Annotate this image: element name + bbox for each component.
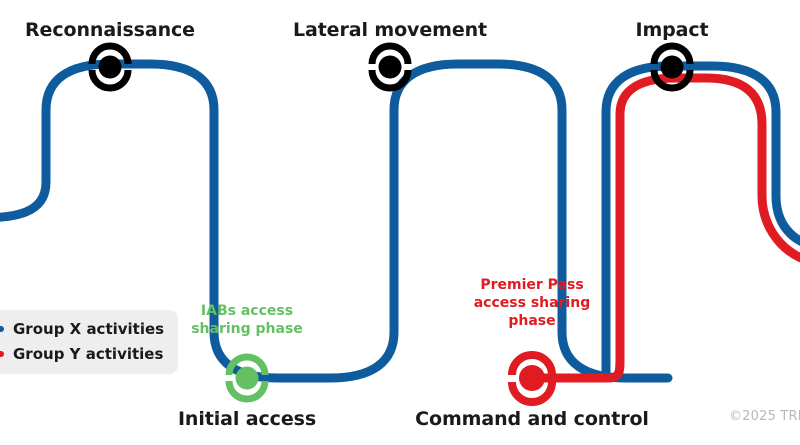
flow-path-canvas <box>0 0 800 445</box>
stage-label-impact: Impact <box>635 19 708 41</box>
group-y-flow-line <box>532 78 800 378</box>
attack-flow-diagram: Reconnaissance Initial access Lateral mo… <box>0 0 800 445</box>
legend-label: Group Y activities <box>13 345 163 363</box>
node-lateral-movement[interactable] <box>372 46 408 88</box>
annotation-premier-pass-access-sharing-phase: Premier Pass access sharing phase <box>474 276 591 330</box>
annotation-line: phase <box>474 312 591 330</box>
copyright-notice: ©2025 TRE <box>729 409 800 424</box>
annotation-iabs-access-sharing-phase: IABs access sharing phase <box>191 302 303 338</box>
legend: Group X activities Group Y activities <box>0 310 178 374</box>
legend-swatch-icon <box>0 326 4 332</box>
stage-label-reconnaissance: Reconnaissance <box>25 19 195 41</box>
legend-label: Group X activities <box>13 320 164 338</box>
target-icon <box>372 46 408 88</box>
annotation-line: access sharing <box>474 294 591 312</box>
stage-label-lateral-movement: Lateral movement <box>293 19 487 41</box>
legend-item-group-y: Group Y activities <box>0 345 164 363</box>
annotation-line: IABs access <box>191 302 303 320</box>
stage-label-initial-access: Initial access <box>178 408 316 430</box>
stage-label-command-and-control: Command and control <box>415 408 649 430</box>
legend-item-group-x: Group X activities <box>0 320 164 338</box>
annotation-line: sharing phase <box>191 320 303 338</box>
legend-swatch-icon <box>0 351 4 357</box>
annotation-line: Premier Pass <box>474 276 591 294</box>
